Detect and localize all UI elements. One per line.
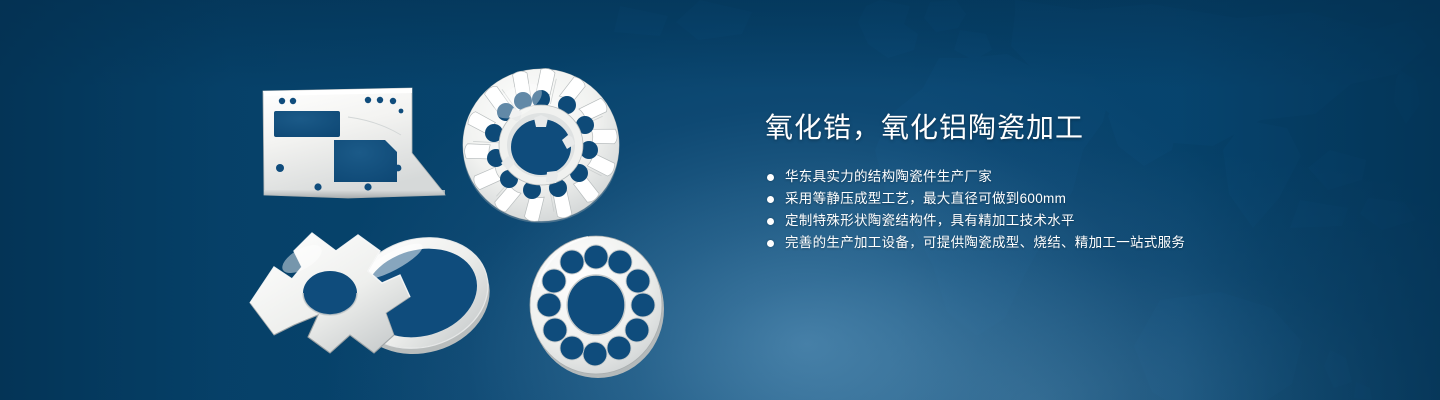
feature-text: 采用等静压成型工艺，最大直径可做到600mm xyxy=(785,191,1066,206)
feature-item: 采用等静压成型工艺，最大直径可做到600mm xyxy=(765,188,1385,210)
feature-item: 华东具实力的结构陶瓷件生产厂家 xyxy=(765,166,1385,188)
product-ceramic-valve-plate xyxy=(530,236,664,378)
banner-headline: 氧化锆，氧化铝陶瓷加工 xyxy=(765,108,1385,148)
hero-banner: 氧化锆，氧化铝陶瓷加工 华东具实力的结构陶瓷件生产厂家 采用等静压成型工艺，最大… xyxy=(0,0,1440,400)
product-ceramic-plate xyxy=(263,88,445,198)
bullet-dot-icon xyxy=(767,218,774,225)
feature-text: 定制特殊形状陶瓷结构件，具有精加工技术水平 xyxy=(785,213,1075,228)
feature-text: 华东具实力的结构陶瓷件生产厂家 xyxy=(785,169,992,184)
product-ceramic-impeller xyxy=(463,69,619,224)
bullet-dot-icon xyxy=(767,174,774,181)
feature-item: 完善的生产加工设备，可提供陶瓷成型、烧结、精加工一站式服务 xyxy=(765,232,1385,254)
bullet-dot-icon xyxy=(767,240,774,247)
feature-item: 定制特殊形状陶瓷结构件，具有精加工技术水平 xyxy=(765,210,1385,232)
banner-feature-list: 华东具实力的结构陶瓷件生产厂家 采用等静压成型工艺，最大直径可做到600mm 定… xyxy=(765,166,1385,254)
product-photo-cluster xyxy=(230,35,700,380)
feature-text: 完善的生产加工设备，可提供陶瓷成型、烧结、精加工一站式服务 xyxy=(785,235,1185,250)
banner-copy: 氧化锆，氧化铝陶瓷加工 华东具实力的结构陶瓷件生产厂家 采用等静压成型工艺，最大… xyxy=(765,108,1385,254)
bullet-dot-icon xyxy=(767,196,774,203)
